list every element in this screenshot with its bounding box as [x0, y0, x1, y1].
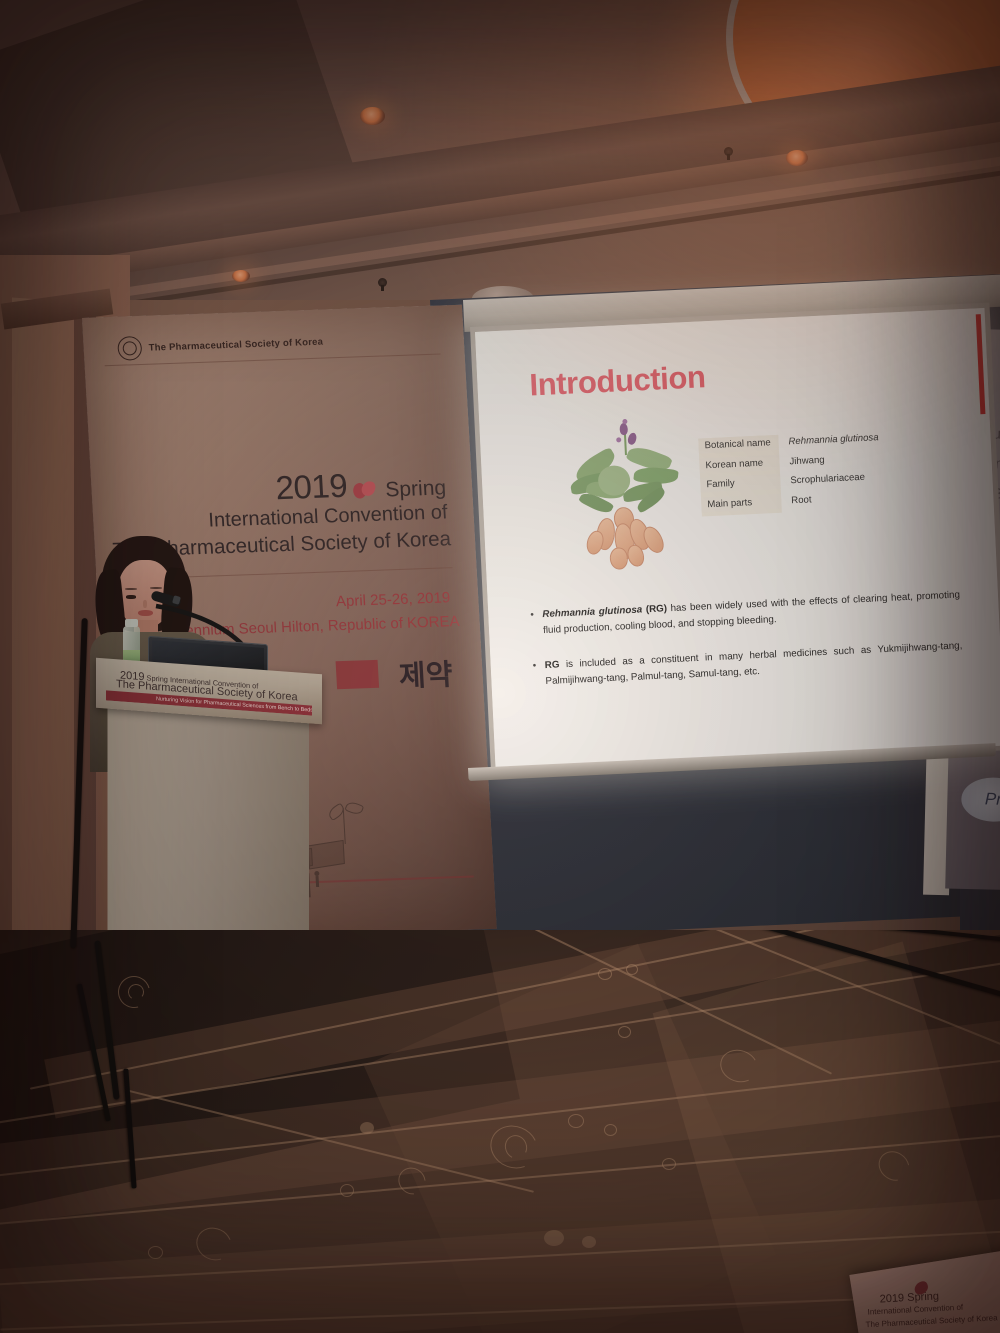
- table-key: Botanical name: [698, 435, 779, 454]
- sprinkler-head: [724, 147, 733, 156]
- list-item: • RG is included as a constituent in man…: [532, 638, 963, 690]
- carpet-dot-filled: [360, 1122, 374, 1134]
- presenter-eye: [126, 595, 136, 599]
- society-logo-icon: [117, 336, 142, 361]
- carpeted-floor: [0, 930, 1000, 1333]
- ceiling: [0, 0, 1000, 320]
- projection-screen: Introduction: [475, 308, 1000, 770]
- floor-sign-line1: 2019 Spring: [879, 1290, 939, 1305]
- table-key: Main parts: [701, 493, 782, 512]
- carpet-dot: [626, 964, 638, 975]
- table-key: Family: [700, 474, 781, 493]
- carpet-dot: [604, 1124, 617, 1136]
- table-value: Scrophulariaceae: [780, 470, 865, 487]
- carpet-dot: [662, 1158, 676, 1170]
- presenter-eyebrow: [150, 587, 162, 589]
- table-value: Rehmannia glutinosa: [778, 430, 879, 448]
- slide-accent-bar: [976, 314, 986, 414]
- recessed-downlight: [360, 107, 385, 125]
- floor-sign-year: 2019: [879, 1292, 904, 1305]
- floor-sign-season: Spring: [907, 1290, 939, 1304]
- carpet-dot-filled: [544, 1230, 564, 1246]
- rehmannia-glutinosa-illustration: [565, 418, 692, 573]
- sprinkler-head: [378, 278, 387, 287]
- list-item: • Rehmannia glutinosa (RG) has been wide…: [530, 587, 961, 639]
- banner-year: 2019: [275, 469, 348, 504]
- banner-year-row: 2019 Spring: [275, 465, 447, 504]
- banner-season: Spring: [385, 477, 447, 500]
- carpet-dot: [148, 1246, 163, 1259]
- butterfly-icon: [353, 481, 380, 502]
- banner-red-block: [336, 660, 380, 689]
- right-banner-seal: Pr: [961, 777, 1000, 823]
- society-logo-text: The Pharmaceutical Society of Korea: [148, 336, 323, 353]
- carpet-dot: [618, 1026, 631, 1038]
- recessed-downlight: [232, 270, 250, 282]
- table-key: Korean name: [699, 454, 780, 473]
- carpet-dot: [340, 1184, 354, 1197]
- bullet-text: RG is included as a constituent in many …: [544, 638, 963, 689]
- carpet-dot: [568, 1114, 584, 1128]
- bullet-body: is included as a constituent in many her…: [545, 640, 962, 687]
- table-value: Root: [781, 492, 812, 506]
- bullet-lead-rest: (RG): [642, 603, 667, 615]
- plant-info-table: Botanical name Rehmannia glutinosa Korea…: [698, 430, 882, 516]
- bullet-text: Rehmannia glutinosa (RG) has been widely…: [542, 587, 961, 638]
- bullet-lead-italic: Rehmannia glutinosa: [542, 604, 642, 620]
- recessed-downlight: [786, 150, 808, 166]
- conference-room-photo: Nurturing Pharma rom Be pril 25-26 illen…: [0, 0, 1000, 1333]
- bottle-cap: [125, 619, 138, 627]
- bullet-lead-bold: RG: [545, 659, 560, 671]
- presenter-eyebrow: [125, 588, 137, 590]
- carpet-dot: [598, 968, 612, 980]
- slide-title: Introduction: [529, 359, 707, 403]
- presentation-slide: Introduction: [475, 308, 1000, 770]
- slide-bullet-list: • Rehmannia glutinosa (RG) has been wide…: [530, 587, 964, 709]
- banner-korean-word: 제약: [398, 651, 454, 695]
- table-value: Jihwang: [779, 452, 825, 467]
- carpet-dot-filled: [582, 1236, 596, 1248]
